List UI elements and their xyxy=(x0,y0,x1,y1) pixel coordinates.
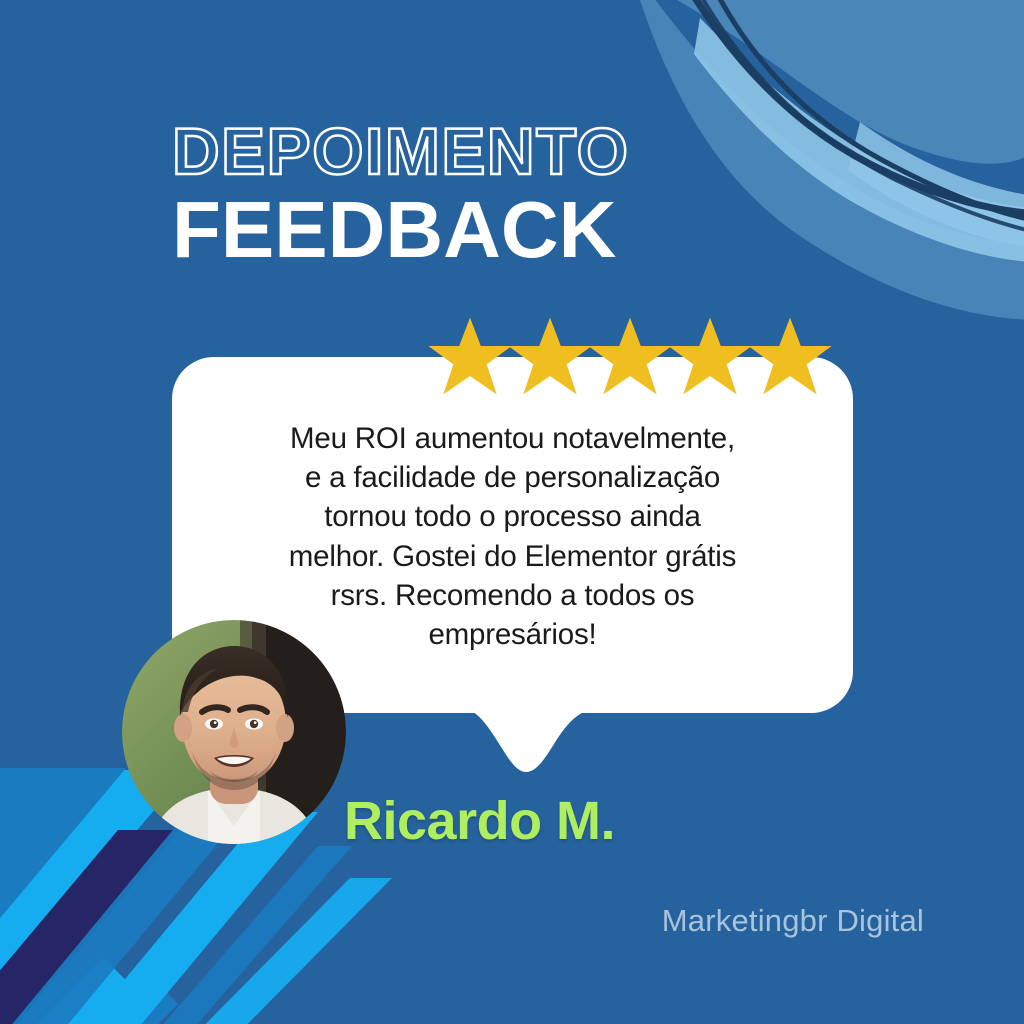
diag-strip-blue-2 xyxy=(0,768,126,966)
testimonial-graphic: DEPOIMENTO FEEDBACK Meu ROI aumentou not… xyxy=(0,0,1024,1024)
diag-strip-blue-4 xyxy=(132,846,352,1024)
star-icon xyxy=(428,316,512,396)
star-rating xyxy=(428,316,828,396)
star-icon xyxy=(668,316,752,396)
quote-line: e a facilidade de personalização xyxy=(305,461,720,494)
star-icon xyxy=(588,316,672,396)
star-icon xyxy=(748,316,832,396)
heading-line-feedback: FEEDBACK xyxy=(172,190,872,270)
quote-line: empresários! xyxy=(428,618,596,651)
diag-strip-blue-1 xyxy=(0,768,86,920)
diag-bar-blue-b xyxy=(0,976,178,1024)
quote-line: melhor. Gostei do Elementor grátis xyxy=(289,540,736,573)
author-name: Ricardo M. xyxy=(344,790,615,852)
avatar-photo xyxy=(122,620,346,844)
quote-line: rsrs. Recomendo a todos os xyxy=(331,579,695,612)
diag-bar-cyan-b xyxy=(0,958,136,1024)
diag-strip-cyan-4 xyxy=(168,878,392,1024)
testimonial-quote: Meu ROI aumentou notavelmente, e a facil… xyxy=(212,419,813,654)
diag-bar-blue-a xyxy=(0,945,64,1024)
brand-label: Marketingbr Digital xyxy=(662,903,924,939)
quote-line: Meu ROI aumentou notavelmente, xyxy=(290,422,735,455)
heading-line-depoimento: DEPOIMENTO xyxy=(172,118,872,184)
diag-strip-indigo xyxy=(0,830,180,1024)
star-icon xyxy=(508,316,592,396)
speech-bubble-tail xyxy=(452,700,612,780)
heading-block: DEPOIMENTO FEEDBACK xyxy=(172,118,872,270)
diag-strip-cyan-3 xyxy=(66,812,318,1024)
wave-band-pale-2 xyxy=(848,122,1024,248)
avatar xyxy=(122,620,346,844)
quote-line: tornou todo o processo ainda xyxy=(324,500,701,533)
